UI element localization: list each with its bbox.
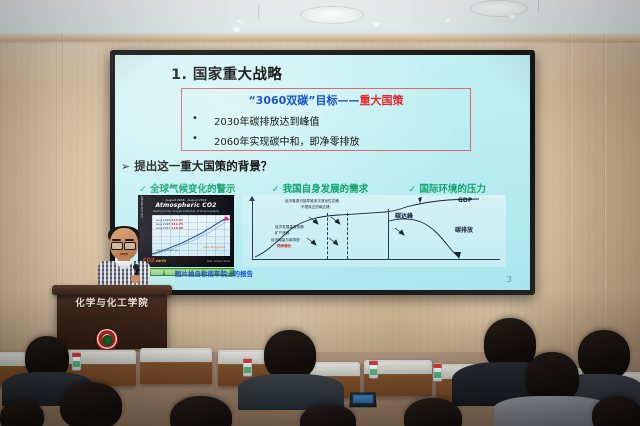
slide-checklist: ✓全球气候变化的警示 ✓我国自身发展的需求 ✓国际环境的压力 (139, 177, 529, 196)
check-icon: ✓ (139, 184, 147, 195)
diagram-label-peak: 碳达峰 (395, 211, 413, 220)
co2-credit: Data: Scripps / NOAA (207, 260, 230, 263)
check-icon: ✓ (272, 184, 280, 195)
bullet-marker: • (192, 113, 198, 124)
ceiling-downlight (443, 18, 452, 23)
co2-note-green: monthly average (156, 249, 178, 252)
water-bottle (243, 358, 252, 377)
checklist-item: ✓全球气候变化的警示 (139, 181, 235, 195)
audience-head (0, 400, 44, 426)
heading-accent: 重大国策 (360, 94, 404, 107)
audience-head (264, 330, 316, 380)
ceiling-downlight (236, 19, 242, 23)
microphone-head-icon (133, 264, 139, 270)
co2-chart-plot: Aug 2019 414.47 Aug 2018 411.75 Aug 2017… (152, 215, 230, 256)
slide-title: 1. 国家重大战略 (171, 63, 282, 84)
glasses-icon (124, 242, 136, 250)
co2-reading-label: Aug 2017 (156, 226, 170, 230)
glasses-icon (111, 242, 123, 250)
laptop (349, 393, 376, 408)
bullet-marker: • (192, 133, 198, 144)
bullet-text: 2030年碳排放达到峰值 (214, 113, 319, 128)
check-icon: ✓ (408, 184, 416, 195)
ceiling-downlight (232, 27, 241, 32)
slide-page-number: 3 (507, 275, 512, 284)
presentation-slide: 1. 国家重大战略 “3060双碳”目标——重大国策 • 2030年碳排放达到峰… (115, 55, 530, 290)
diagram-label-gdp: GDP (458, 197, 472, 204)
checklist-item: ✓国际环境的压力 (408, 181, 485, 195)
co2-chart-image: August 2018 - August 2019 Atmospheric CO… (138, 195, 234, 267)
ceiling-fixture-stem (538, 0, 539, 12)
carbon-peak-diagram: 经济衰退可能导致多次波动性达峰， 不是真正的碳达峰 经济发展高度依赖 矿产资源 … (243, 195, 506, 267)
slide-question-text: 提出这一重大国策的背景？ (134, 159, 272, 173)
co2-chart-y-label: CO2 CONCENTRATION (ppm) (141, 195, 144, 218)
diagram-label-emission: 碳排放 (455, 225, 473, 234)
projection-screen: 1. 国家重大战略 “3060双碳”目标——重大国策 • 2030年碳排放达到峰… (110, 50, 535, 295)
highlight-box-heading: “3060双碳”目标——重大国策 (182, 92, 470, 108)
checklist-item: ✓我国自身发展的需求 (272, 181, 368, 195)
co2-watermark-sub: .earth (154, 259, 166, 263)
diagram-caption: 图片拍自徐南平院士的报告 (175, 268, 253, 278)
presenter-brow (112, 239, 121, 241)
water-bottle (369, 360, 378, 379)
water-bottle (72, 352, 81, 371)
bullet-text: 2060年实现碳中和，即净零排放 (214, 133, 359, 148)
emblem-inner (102, 335, 113, 346)
auditorium-seat (140, 348, 212, 384)
wall-cornice (0, 34, 640, 41)
audience-head (592, 396, 640, 426)
audience-head (578, 330, 630, 380)
podium-top (52, 285, 172, 295)
lecture-hall-scene: 1. 国家重大战略 “3060双碳”目标——重大国策 • 2030年碳排放达到峰… (0, 0, 640, 426)
university-emblem-icon (96, 329, 118, 351)
co2-chart-readings: Aug 2019 414.47 Aug 2018 411.75 Aug 2017… (156, 218, 183, 231)
highlight-box: “3060双碳”目标——重大国策 • 2030年碳排放达到峰值 • 2060年实… (181, 88, 471, 151)
checklist-label: 全球气候变化的警示 (150, 184, 236, 195)
arrow-icon: ➢ (121, 160, 130, 173)
checklist-label: 国际环境的压力 (419, 184, 486, 195)
co2-reading-value: 410.28 (171, 226, 183, 230)
slide-question: ➢ 提出这一重大国策的背景？ (121, 158, 272, 174)
ceiling-downlight (508, 14, 517, 19)
audience-head (60, 382, 122, 426)
checklist-label: 我国自身发展的需求 (283, 184, 369, 195)
ceiling-light (470, 0, 528, 17)
co2-chart-subtitle: Keeling Curve, Scripps Institution of Oc… (139, 210, 233, 213)
presenter-brow (125, 239, 134, 241)
water-bottle (433, 363, 442, 382)
presenter-mouth (120, 253, 128, 255)
podium-sign: 化学与化工学院 (57, 295, 167, 309)
co2-note-orange: ppm rising trend (203, 246, 225, 249)
presenter-hand (131, 275, 140, 283)
heading-mid: 目标—— (316, 94, 360, 107)
ceiling-downlight (372, 22, 381, 27)
heading-quote: “3060双碳” (248, 94, 315, 107)
ceiling-light (300, 6, 364, 24)
ceiling-fixture-stem (258, 5, 259, 19)
co2-chart-title: Atmospheric CO2 (139, 202, 233, 209)
presenter (96, 228, 152, 292)
